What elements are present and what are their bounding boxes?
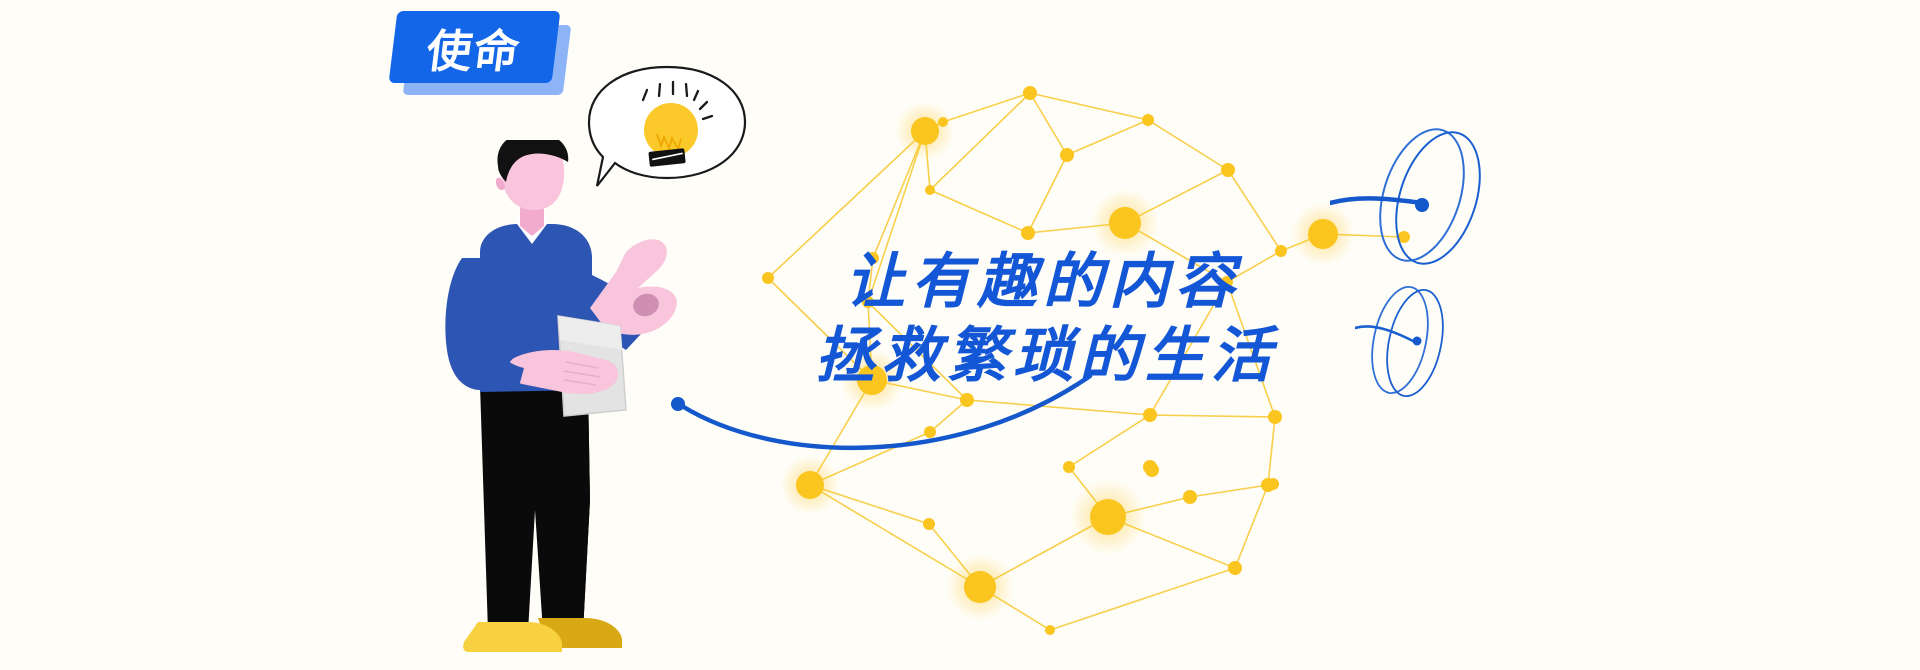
network-edge bbox=[1108, 517, 1235, 568]
network-node bbox=[1090, 499, 1126, 535]
trousers bbox=[480, 385, 590, 632]
network-node bbox=[1228, 561, 1242, 575]
network-edge bbox=[925, 122, 943, 131]
network-edge bbox=[1030, 93, 1148, 120]
network-edge bbox=[925, 131, 930, 190]
network-node bbox=[1221, 163, 1235, 177]
network-node bbox=[964, 571, 996, 603]
network-edge bbox=[1028, 223, 1125, 233]
network-node-glow bbox=[1070, 479, 1146, 555]
network-node bbox=[925, 185, 935, 195]
network-node bbox=[1261, 478, 1275, 492]
network-edge bbox=[1050, 568, 1235, 630]
network-node bbox=[1142, 114, 1154, 126]
network-edge bbox=[1268, 417, 1275, 485]
network-edge bbox=[929, 524, 980, 587]
network-node bbox=[938, 117, 948, 127]
mission-banner: 使命 bbox=[0, 0, 1920, 670]
network-node-glow bbox=[946, 553, 1013, 620]
network-edge bbox=[1028, 155, 1067, 233]
network-node bbox=[1109, 207, 1141, 239]
network-edge bbox=[980, 517, 1108, 587]
network-node bbox=[762, 272, 774, 284]
network-node bbox=[1267, 478, 1279, 490]
network-edge bbox=[1148, 120, 1228, 170]
network-edge bbox=[1108, 497, 1190, 517]
character-illustration bbox=[440, 140, 740, 670]
network-edge bbox=[810, 485, 980, 587]
network-node bbox=[1183, 490, 1197, 504]
shoes bbox=[463, 618, 622, 652]
network-edge bbox=[1125, 170, 1228, 223]
network-node bbox=[1060, 148, 1074, 162]
network-edge bbox=[1067, 120, 1148, 155]
network-node bbox=[1045, 625, 1055, 635]
network-edge bbox=[1030, 93, 1067, 155]
network-node bbox=[1021, 226, 1035, 240]
network-node-glow bbox=[896, 102, 955, 161]
network-edge bbox=[943, 93, 1030, 122]
network-edge bbox=[873, 131, 925, 258]
headline-line-1: 让有趣的内容 bbox=[845, 245, 1485, 319]
network-edge bbox=[930, 190, 1028, 233]
network-edge bbox=[930, 93, 1030, 190]
network-node bbox=[1023, 86, 1037, 100]
network-node bbox=[923, 518, 935, 530]
network-edge bbox=[810, 485, 929, 524]
headline: 让有趣的内容 拯救繁琐的生活 bbox=[845, 245, 1485, 393]
network-node bbox=[911, 117, 939, 145]
headline-line-2: 拯救繁琐的生活 bbox=[815, 319, 1485, 393]
network-edge bbox=[1228, 170, 1281, 251]
spiral-upper-dot bbox=[1415, 198, 1429, 212]
network-edge bbox=[1235, 485, 1268, 568]
mission-badge[interactable]: 使命 bbox=[393, 11, 578, 103]
network-node bbox=[1268, 410, 1282, 424]
network-edge bbox=[980, 587, 1050, 630]
badge-label: 使命 bbox=[389, 11, 561, 83]
